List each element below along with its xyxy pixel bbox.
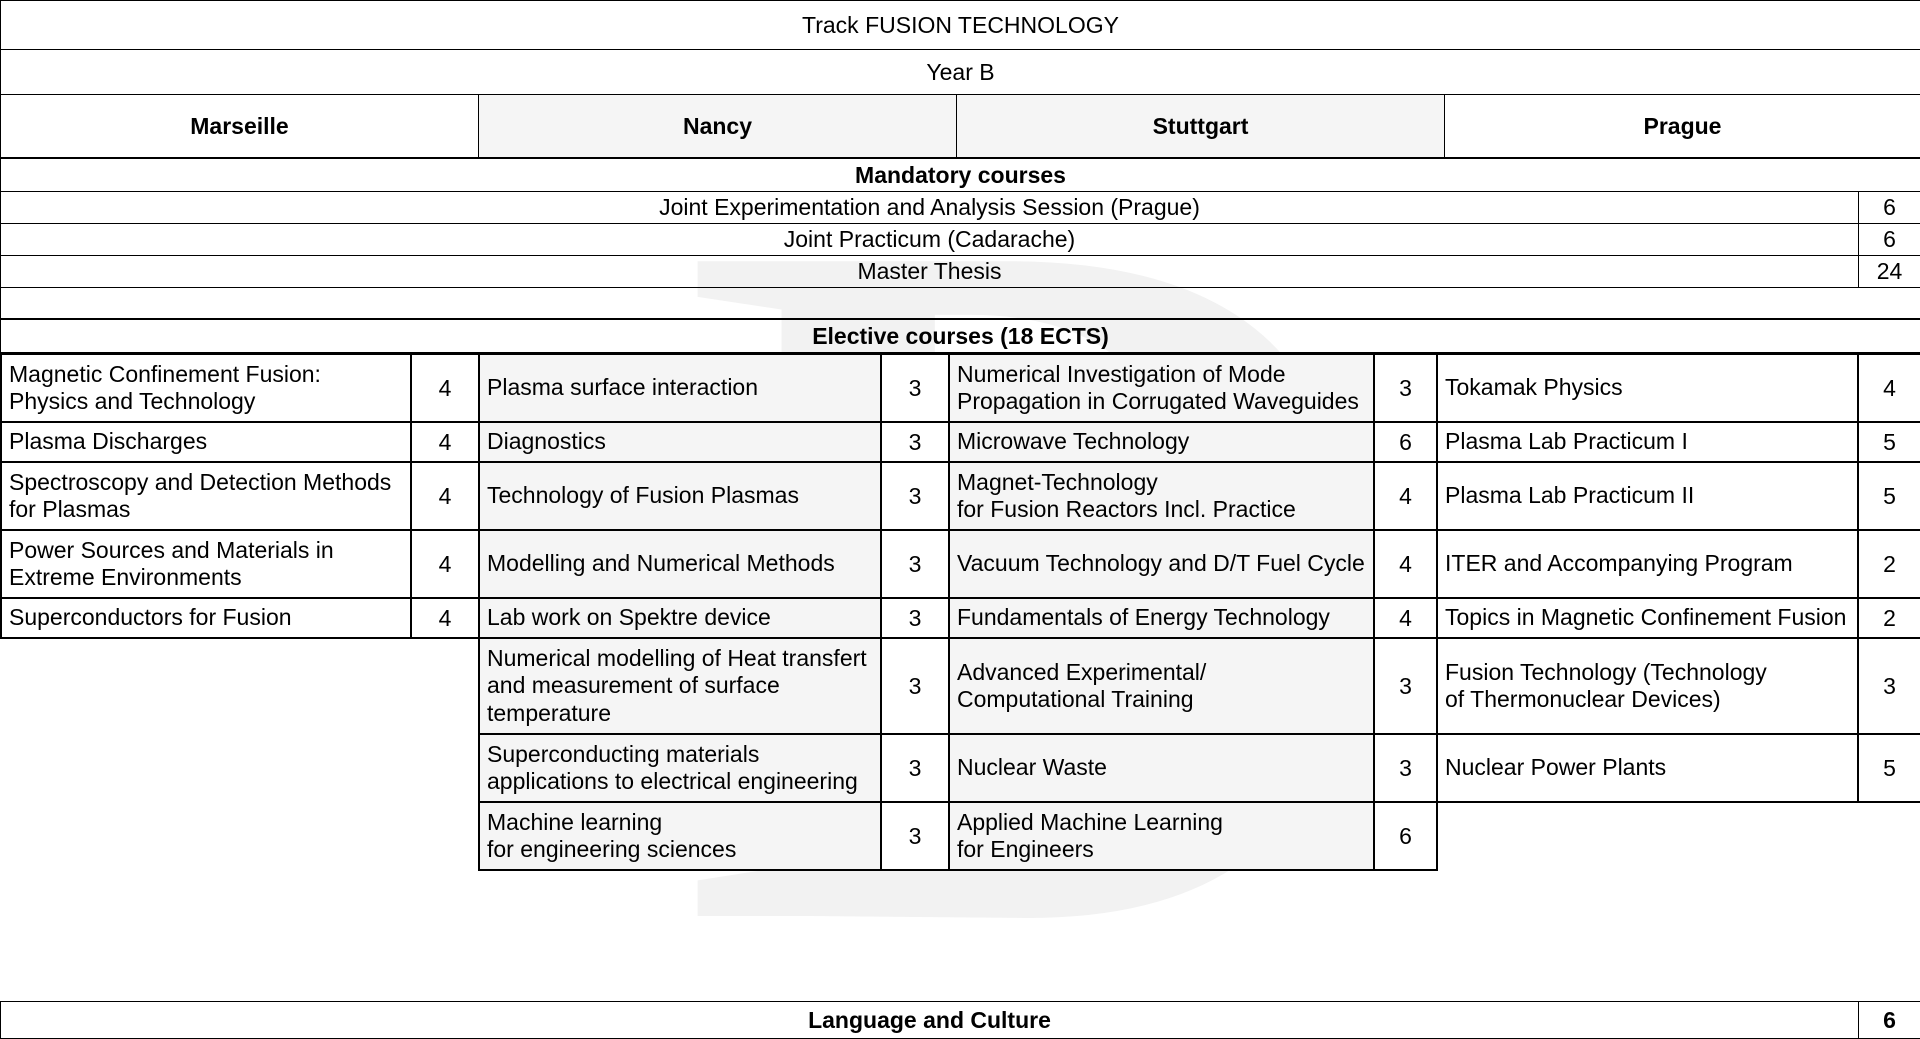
curriculum-sheet: Track FUSION TECHNOLOGY Year B Marseille… [0,0,1920,1037]
ects-nancy: 3 [881,734,949,802]
header-table: Track FUSION TECHNOLOGY Year B Marseille… [0,0,1920,158]
year-banner-row: Year B [1,50,1920,95]
language-culture-label: Language and Culture [1,1002,1859,1039]
empty-cell [1,734,411,802]
course-stuttgart: Numerical Investigation of ModePropagati… [949,354,1374,422]
ects-marseille: 4 [411,422,479,462]
ects-nancy: 3 [881,354,949,422]
city-header-prague: Prague [1445,95,1920,158]
city-header-row: Marseille Nancy Stuttgart Prague [1,95,1920,158]
course-nancy: Machine learningfor engineering sciences [479,802,881,870]
course-prague: Topics in Magnetic Confinement Fusion [1437,598,1858,638]
elective-row: Machine learningfor engineering sciences… [1,802,1920,870]
ects-prague: 2 [1858,598,1920,638]
city-header-stuttgart: Stuttgart [957,95,1445,158]
course-nancy: Modelling and Numerical Methods [479,530,881,598]
mandatory-course-name: Joint Practicum (Cadarache) [1,224,1859,256]
course-stuttgart: Advanced Experimental/Computational Trai… [949,638,1374,734]
course-prague: Plasma Lab Practicum I [1437,422,1858,462]
ects-marseille: 4 [411,530,479,598]
elective-row: Superconductors for Fusion 4 Lab work on… [1,598,1920,638]
course-marseille: Plasma Discharges [1,422,411,462]
mandatory-course-ects: 6 [1859,192,1920,224]
ects-prague: 3 [1858,638,1920,734]
elective-row: Power Sources and Materials inExtreme En… [1,530,1920,598]
ects-nancy: 3 [881,802,949,870]
course-stuttgart: Applied Machine Learningfor Engineers [949,802,1374,870]
mandatory-row: Joint Practicum (Cadarache) 6 [1,224,1920,256]
elective-row: Spectroscopy and Detection Methodsfor Pl… [1,462,1920,530]
ects-stuttgart: 6 [1374,422,1437,462]
language-culture-ects: 6 [1859,1002,1920,1039]
ects-marseille: 4 [411,354,479,422]
course-stuttgart: Magnet-Technologyfor Fusion Reactors Inc… [949,462,1374,530]
track-title: Track FUSION TECHNOLOGY [1,1,1920,50]
ects-nancy: 3 [881,462,949,530]
empty-cell [411,802,479,870]
ects-prague: 5 [1858,462,1920,530]
course-prague: ITER and Accompanying Program [1437,530,1858,598]
ects-nancy: 3 [881,422,949,462]
empty-cell [1,802,411,870]
city-header-marseille: Marseille [1,95,479,158]
ects-marseille: 4 [411,462,479,530]
elective-row: Superconducting materialsapplications to… [1,734,1920,802]
ects-nancy: 3 [881,638,949,734]
track-banner-row: Track FUSION TECHNOLOGY [1,1,1920,50]
ects-stuttgart: 3 [1374,638,1437,734]
course-marseille: Spectroscopy and Detection Methodsfor Pl… [1,462,411,530]
course-marseille: Magnetic Confinement Fusion:Physics and … [1,354,411,422]
course-stuttgart: Microwave Technology [949,422,1374,462]
course-nancy: Superconducting materialsapplications to… [479,734,881,802]
mandatory-course-ects: 6 [1859,224,1920,256]
course-stuttgart: Vacuum Technology and D/T Fuel Cycle [949,530,1374,598]
mandatory-row: Joint Experimentation and Analysis Sessi… [1,192,1920,224]
elective-row: Numerical modelling of Heat transfertand… [1,638,1920,734]
elective-section-header: Elective courses (18 ECTS) [1,320,1920,353]
mandatory-section-label: Mandatory courses [1,159,1920,192]
ects-stuttgart: 6 [1374,802,1437,870]
elective-section-label: Elective courses (18 ECTS) [1,320,1920,353]
course-nancy: Numerical modelling of Heat transfertand… [479,638,881,734]
mandatory-course-name: Master Thesis [1,256,1859,288]
course-marseille: Power Sources and Materials inExtreme En… [1,530,411,598]
course-marseille: Superconductors for Fusion [1,598,411,638]
ects-stuttgart: 4 [1374,462,1437,530]
elective-row: Magnetic Confinement Fusion:Physics and … [1,354,1920,422]
empty-cell [1858,802,1920,870]
ects-stuttgart: 4 [1374,530,1437,598]
ects-stuttgart: 4 [1374,598,1437,638]
ects-nancy: 3 [881,598,949,638]
spacer-row [1,288,1920,319]
course-stuttgart: Nuclear Waste [949,734,1374,802]
language-culture-row: Language and Culture 6 [1,1002,1920,1039]
course-stuttgart: Fundamentals of Energy Technology [949,598,1374,638]
city-header-nancy: Nancy [479,95,957,158]
empty-cell [411,638,479,734]
course-prague: Fusion Technology (Technologyof Thermonu… [1437,638,1858,734]
ects-stuttgart: 3 [1374,734,1437,802]
year-label: Year B [1,50,1920,95]
mandatory-course-name: Joint Experimentation and Analysis Sessi… [1,192,1859,224]
empty-cell [1437,802,1858,870]
course-prague: Tokamak Physics [1437,354,1858,422]
course-nancy: Plasma surface interaction [479,354,881,422]
elective-table: Magnetic Confinement Fusion:Physics and … [0,353,1920,871]
ects-stuttgart: 3 [1374,354,1437,422]
ects-prague: 4 [1858,354,1920,422]
ects-nancy: 3 [881,530,949,598]
ects-prague: 2 [1858,530,1920,598]
mandatory-section-header: Mandatory courses [1,159,1920,192]
mandatory-row: Master Thesis 24 [1,256,1920,288]
empty-cell [411,734,479,802]
mandatory-table: Mandatory courses Joint Experimentation … [0,158,1920,319]
ects-prague: 5 [1858,734,1920,802]
elective-header-table: Elective courses (18 ECTS) [0,319,1920,353]
spacer-cell [1,288,1920,319]
course-nancy: Diagnostics [479,422,881,462]
course-prague: Nuclear Power Plants [1437,734,1858,802]
course-prague: Plasma Lab Practicum II [1437,462,1858,530]
ects-marseille: 4 [411,598,479,638]
course-nancy: Lab work on Spektre device [479,598,881,638]
course-nancy: Technology of Fusion Plasmas [479,462,881,530]
elective-row: Plasma Discharges 4 Diagnostics 3 Microw… [1,422,1920,462]
empty-cell [1,638,411,734]
mandatory-course-ects: 24 [1859,256,1920,288]
language-footer-table: Language and Culture 6 [0,1001,1920,1039]
ects-prague: 5 [1858,422,1920,462]
